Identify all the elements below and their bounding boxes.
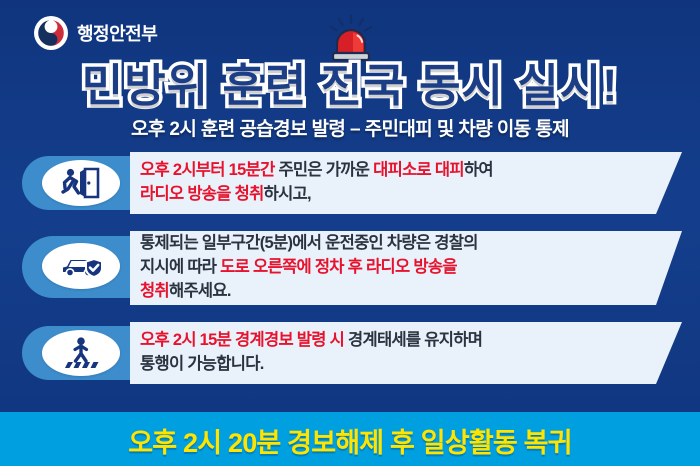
ministry-brand: 행정안전부 (34, 16, 157, 50)
card-span: 하여 (464, 161, 493, 179)
card-line: 라디오 방송을 청취하시고, (140, 183, 642, 207)
card-span: 통제되는 일부구간(5분)에서 운전중인 차량은 경찰의 (140, 234, 478, 252)
instruction-card-evacuation: 오후 2시부터 15분간 주민은 가까운 대피소로 대피하여 라디오 방송을 청… (22, 152, 682, 214)
banner-text: 오후 2시 20분 경보해제 후 일상활동 복귀 (128, 421, 571, 460)
civil-defense-drill-poster: 행정안전부 민방위 훈련 전국 동시 실시! 오후 2시 훈련 공습경보 발령 … (0, 0, 700, 466)
card-span: 경계태세를 유지하며 (348, 331, 482, 349)
card-span: 오후 2시부터 15분간 (140, 161, 278, 179)
card-span: 지시에 따라 (140, 258, 220, 276)
pedestrian-crosswalk-icon (42, 330, 120, 376)
card-line: 통행이 가능합니다. (140, 353, 642, 377)
evacuation-exit-icon (42, 160, 120, 206)
card-span: 해주세요. (169, 282, 231, 300)
card-line: 오후 2시부터 15분간 주민은 가까운 대피소로 대피하여 (140, 159, 642, 183)
page-title: 민방위 훈련 전국 동시 실시! (0, 62, 700, 109)
card-line: 통제되는 일부구간(5분)에서 운전중인 차량은 경찰의 (140, 232, 642, 256)
card-span: 통행이 가능합니다. (140, 355, 264, 373)
card-span: 라디오 방송을 청취 (140, 185, 264, 203)
card-text: 오후 2시 15분 경계경보 발령 시 경계태세를 유지하며 통행이 가능합니다… (140, 322, 642, 384)
card-text: 오후 2시부터 15분간 주민은 가까운 대피소로 대피하여 라디오 방송을 청… (140, 152, 642, 214)
instruction-card-pedestrian: 오후 2시 15분 경계경보 발령 시 경계태세를 유지하며 통행이 가능합니다… (22, 322, 682, 384)
instruction-card-vehicle: 통제되는 일부구간(5분)에서 운전중인 차량은 경찰의 지시에 따라 도로 오… (22, 231, 682, 305)
card-span: 청취 (140, 282, 169, 300)
car-shield-icon (42, 243, 120, 289)
card-text: 통제되는 일부구간(5분)에서 운전중인 차량은 경찰의 지시에 따라 도로 오… (140, 231, 642, 305)
korea-government-taegeuk-logo-icon (34, 16, 68, 50)
card-span: 오후 2시 15분 경계경보 발령 시 (140, 331, 348, 349)
card-span: 대피소로 대피 (373, 161, 464, 179)
instruction-card-list: 오후 2시부터 15분간 주민은 가까운 대피소로 대피하여 라디오 방송을 청… (22, 152, 682, 401)
card-span: 주민은 가까운 (278, 161, 373, 179)
card-span: 하시고, (264, 185, 311, 203)
card-line: 청취해주세요. (140, 280, 642, 304)
title-block: 민방위 훈련 전국 동시 실시! 오후 2시 훈련 공습경보 발령 – 주민대피… (0, 62, 700, 141)
card-span: 도로 오른쪽에 정차 후 라디오 방송을 (220, 258, 457, 276)
emergency-siren-icon (321, 14, 381, 66)
page-subtitle: 오후 2시 훈련 공습경보 발령 – 주민대피 및 차량 이동 통제 (0, 114, 700, 141)
card-line: 오후 2시 15분 경계경보 발령 시 경계태세를 유지하며 (140, 329, 642, 353)
card-line: 지시에 따라 도로 오른쪽에 정차 후 라디오 방송을 (140, 256, 642, 280)
ministry-name: 행정안전부 (77, 20, 157, 46)
bottom-banner: 오후 2시 20분 경보해제 후 일상활동 복귀 (0, 414, 700, 466)
